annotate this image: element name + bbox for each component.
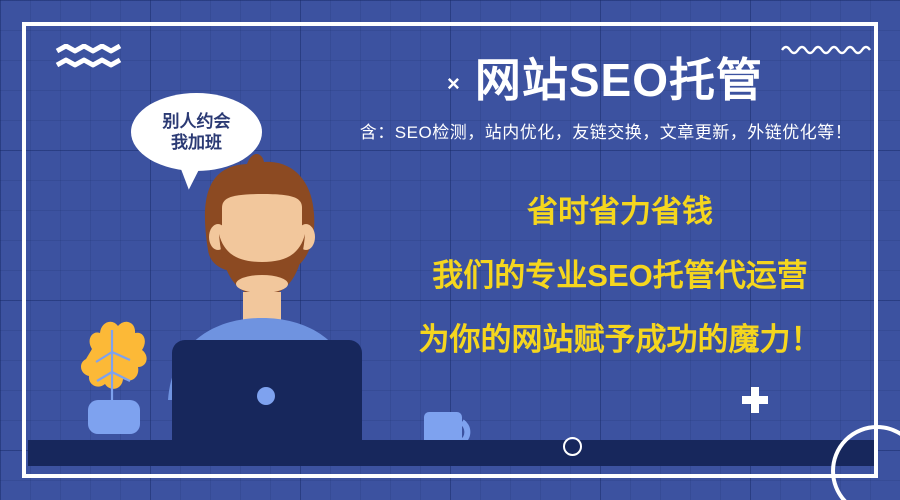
plant-pot xyxy=(88,400,140,434)
desk xyxy=(0,440,900,500)
mug-handle xyxy=(462,422,467,442)
slogan-line-3: 为你的网站赋予成功的魔力！ xyxy=(360,324,880,355)
mouth xyxy=(236,275,288,293)
seo-promo-banner: 别人约会 我加班 ×网站SEO托管 含：SEO检测，站内优化，友链交换，文章更新… xyxy=(0,0,900,500)
speech-bubble: 别人约会 我加班 xyxy=(131,93,262,171)
slogan-line-1: 省时省力省钱 xyxy=(360,196,880,227)
ear-right xyxy=(297,224,315,250)
plant-leaf xyxy=(81,322,147,389)
laptop-logo xyxy=(257,387,275,405)
potted-plant xyxy=(81,322,147,434)
wave-lines-icon xyxy=(55,44,127,70)
circle-outline-icon xyxy=(563,437,582,456)
x-mark-icon: × xyxy=(447,71,461,96)
headline-text: 网站SEO托管 xyxy=(475,54,763,106)
slogan-block: 省时省力省钱 我们的专业SEO托管代运营 为你的网站赋予成功的魔力！ xyxy=(360,196,880,355)
page-title: ×网站SEO托管 xyxy=(340,44,870,110)
speech-bubble-line-1: 别人约会 xyxy=(163,111,231,132)
speech-bubble-line-2: 我加班 xyxy=(171,132,222,153)
subheadline: 含：SEO检测，站内优化，友链交换，文章更新，外链优化等！ xyxy=(330,118,882,143)
plus-icon xyxy=(742,387,768,413)
corner-circle-icon xyxy=(831,425,900,500)
character-head xyxy=(205,154,315,326)
slogan-line-2: 我们的专业SEO托管代运营 xyxy=(360,260,880,291)
ear-left xyxy=(209,224,227,250)
